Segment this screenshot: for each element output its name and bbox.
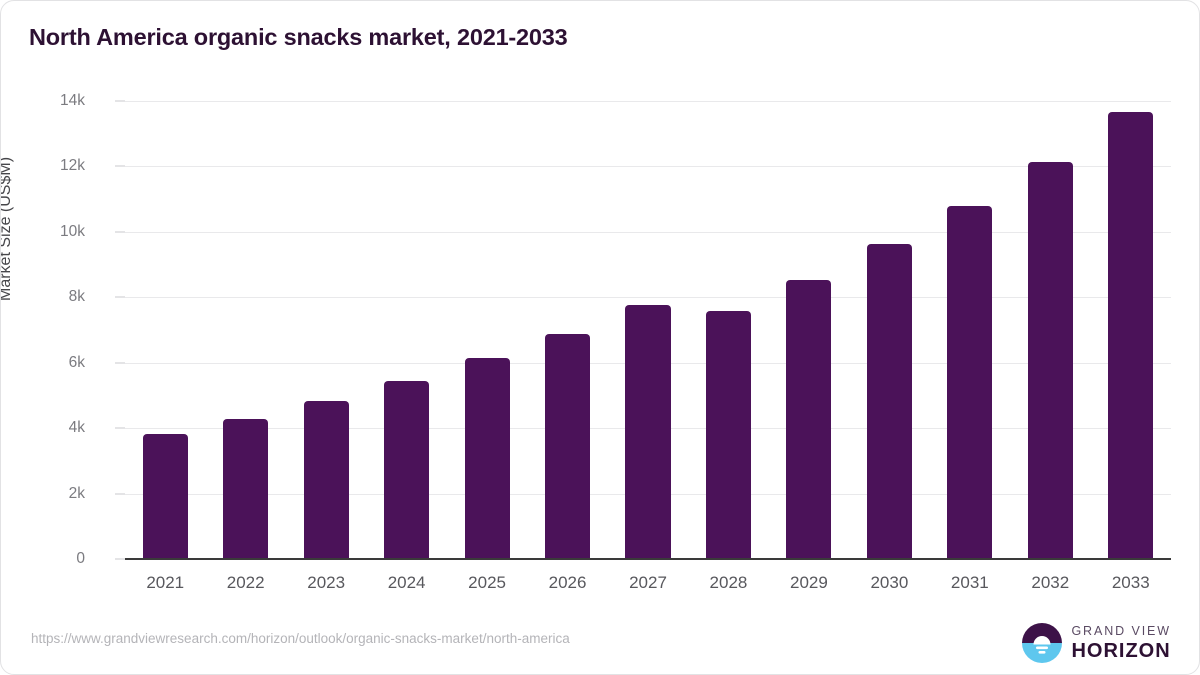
bar-column[interactable] (223, 101, 268, 559)
bar-column[interactable] (143, 101, 188, 559)
bar-column[interactable] (465, 101, 510, 559)
y-tick-label: 4k (0, 419, 85, 437)
y-tick-mark (115, 297, 125, 298)
y-tick-label: 2k (0, 485, 85, 503)
horizon-sun-icon (1022, 623, 1062, 663)
chart-figure: North America organic snacks market, 202… (0, 0, 1200, 675)
bar-column[interactable] (625, 101, 670, 559)
bar[interactable] (625, 305, 670, 559)
bar[interactable] (465, 358, 510, 559)
x-tick-label: 2022 (205, 573, 285, 593)
bar-column[interactable] (947, 101, 992, 559)
x-tick-label: 2032 (1010, 573, 1090, 593)
bar-column[interactable] (867, 101, 912, 559)
x-axis-line (125, 558, 1171, 560)
x-tick-label: 2029 (769, 573, 849, 593)
y-tick-label: 6k (0, 354, 85, 372)
x-tick-label: 2024 (366, 573, 446, 593)
y-axis-title: Market Size (US$M) (0, 157, 15, 301)
x-tick-label: 2025 (447, 573, 527, 593)
bar[interactable] (867, 244, 912, 559)
bar-column[interactable] (1108, 101, 1153, 559)
bar[interactable] (1108, 112, 1153, 559)
page-title: North America organic snacks market, 202… (29, 24, 568, 51)
x-tick-label: 2031 (930, 573, 1010, 593)
bar[interactable] (1028, 162, 1073, 559)
x-tick-label: 2021 (125, 573, 205, 593)
y-tick-mark (115, 231, 125, 232)
y-tick-mark (115, 493, 125, 494)
bar-column[interactable] (384, 101, 429, 559)
plot-area: 02k4k6k8k10k12k14k (125, 101, 1171, 559)
brand-logo-text: GRAND VIEW HORIZON (1071, 625, 1171, 662)
bar[interactable] (384, 381, 429, 559)
bar-column[interactable] (706, 101, 751, 559)
bar[interactable] (223, 419, 268, 559)
y-tick-mark (115, 101, 125, 102)
source-url[interactable]: https://www.grandviewresearch.com/horizo… (31, 631, 570, 646)
brand-logo: GRAND VIEW HORIZON (1022, 623, 1171, 663)
x-tick-label: 2028 (688, 573, 768, 593)
y-tick-mark (115, 559, 125, 560)
x-tick-label: 2026 (527, 573, 607, 593)
x-tick-label: 2027 (608, 573, 688, 593)
bar[interactable] (304, 401, 349, 559)
x-tick-label: 2023 (286, 573, 366, 593)
x-tick-label: 2033 (1091, 573, 1171, 593)
brand-name-bottom: HORIZON (1071, 641, 1171, 661)
bar[interactable] (143, 434, 188, 559)
y-tick-label: 14k (0, 92, 85, 110)
bar-column[interactable] (304, 101, 349, 559)
bar-series (125, 101, 1171, 559)
bar-column[interactable] (786, 101, 831, 559)
bar[interactable] (706, 311, 751, 559)
y-tick-mark (115, 362, 125, 363)
bar[interactable] (786, 280, 831, 559)
y-tick-mark (115, 166, 125, 167)
y-tick-mark (115, 428, 125, 429)
x-tick-label: 2030 (849, 573, 929, 593)
y-tick-label: 0 (0, 550, 85, 568)
bar-column[interactable] (1028, 101, 1073, 559)
bar[interactable] (947, 206, 992, 559)
bar[interactable] (545, 334, 590, 559)
brand-name-top: GRAND VIEW (1071, 625, 1171, 638)
bar-column[interactable] (545, 101, 590, 559)
